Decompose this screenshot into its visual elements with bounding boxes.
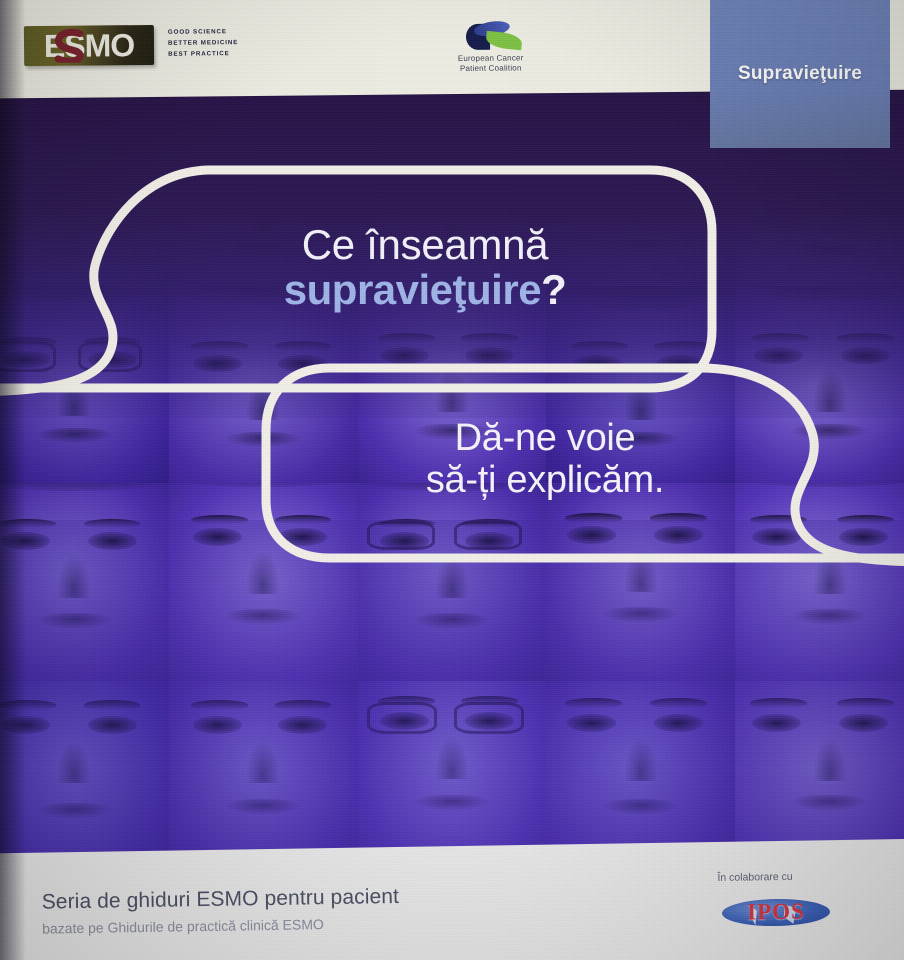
collaboration-label: În colaborare cu (717, 871, 792, 884)
footer-band: Seria de ghiduri ESMO pentru pacient baz… (0, 838, 904, 960)
bubble-one-line-1: Ce înseamnă (210, 222, 640, 267)
bubble-one-highlight: supravieţuire (284, 266, 541, 313)
ecpc-line-2: Patient Coalition (418, 63, 563, 74)
esmo-s-swoosh-icon (50, 29, 90, 63)
esmo-logo: ESMO (24, 25, 154, 66)
topic-tab-label: Supravieţuire (738, 63, 862, 85)
ecpc-logo-text: European Cancer Patient Coalition (418, 53, 563, 74)
bubble-one-question-mark: ? (541, 266, 566, 313)
topic-tab-supravietuire[interactable]: Supravieţuire (710, 0, 890, 148)
footer-subtitle: bazate pe Ghidurile de practică clinică … (42, 916, 324, 936)
footer-title: Seria de ghiduri ESMO pentru pacient (42, 885, 400, 915)
poster-page: Ce înseamnă supravieţuire? Dă-ne voie să… (0, 0, 904, 960)
esmo-tagline: GOOD SCIENCE BETTER MEDICINE BEST PRACTI… (168, 26, 288, 60)
ecpc-logo: European Cancer Patient Coalition (418, 21, 564, 82)
ecpc-swirl-icon (459, 21, 521, 52)
ipos-wordmark: IPOS (722, 894, 831, 930)
bubble-one-text: Ce înseamnă supravieţuire? (210, 222, 640, 313)
bubble-two-line-2: să-ți explicăm. (360, 460, 730, 502)
bubble-one-line-2: supravieţuire? (210, 267, 640, 312)
ipos-logo: IPOS (722, 894, 833, 930)
bubble-two-line-1: Dă-ne voie (360, 418, 730, 460)
esmo-tagline-line-3: BEST PRACTICE (168, 48, 288, 60)
bubble-two-text: Dă-ne voie să-ți explicăm. (360, 418, 730, 502)
